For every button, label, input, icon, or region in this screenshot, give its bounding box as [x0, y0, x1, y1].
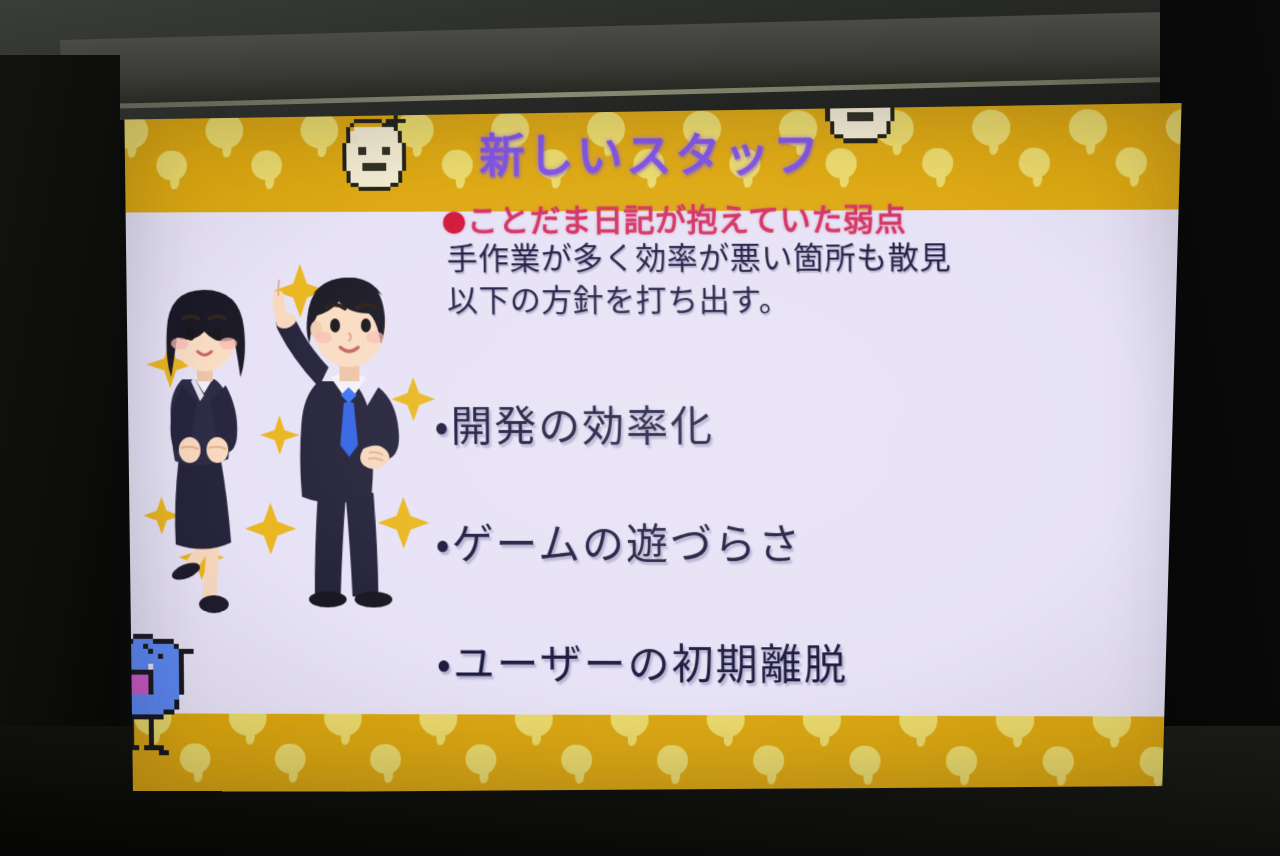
projection-screen: 新しいスタッフ	[118, 103, 1188, 793]
red-bullet-glyph: ●	[441, 204, 467, 238]
cream-pixel-head-icon	[338, 114, 418, 200]
bullet-item-2: ・ゲームの遊づらさ	[435, 511, 802, 572]
lead-line-2: 以下の方針を打ち出す。	[447, 275, 790, 321]
projector-photo: 新しいスタッフ	[0, 0, 1280, 856]
bullet-item-1: ・開発の効率化	[434, 393, 714, 454]
lead-line-1: 手作業が多く効率が悪い箇所も散見	[447, 232, 952, 278]
bullet-item-3: ・ユーザーの初期離脱	[436, 631, 848, 693]
cream-pixel-head-icon	[821, 101, 908, 153]
presentation-slide: 新しいスタッフ	[118, 101, 1194, 795]
slide-body: ●ことだま日記が抱えていた弱点 手作業が多く効率が悪い箇所も散見 以下の方針を打…	[118, 101, 1194, 795]
